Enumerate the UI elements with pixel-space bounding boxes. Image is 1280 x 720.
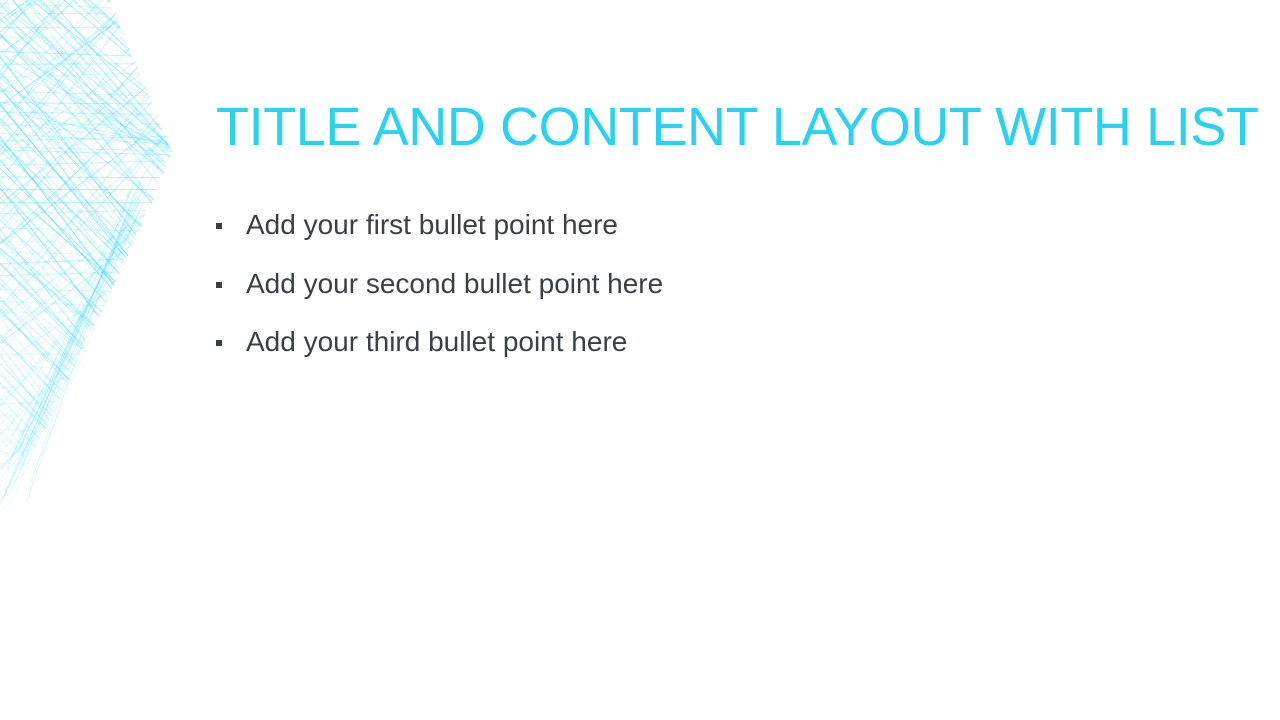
square-bullet-icon — [216, 282, 222, 288]
list-item-label: Add your first bullet point here — [246, 208, 618, 242]
wireframe-mesh-decoration — [0, 0, 200, 520]
title-block: TITLE AND CONTENT LAYOUT WITH LIST — [216, 96, 1226, 158]
square-bullet-icon — [216, 340, 222, 346]
list-item-label: Add your third bullet point here — [246, 325, 627, 359]
square-bullet-icon — [216, 223, 222, 229]
list-item: Add your second bullet point here — [216, 267, 1196, 326]
page-title: TITLE AND CONTENT LAYOUT WITH LIST — [216, 96, 1226, 158]
wireframe-mesh-svg — [0, 0, 200, 520]
list-item: Add your first bullet point here — [216, 208, 1196, 267]
slide-canvas: TITLE AND CONTENT LAYOUT WITH LIST Add y… — [0, 0, 1280, 720]
list-item-label: Add your second bullet point here — [246, 267, 663, 301]
bullet-list: Add your first bullet point here Add you… — [216, 208, 1196, 384]
list-item: Add your third bullet point here — [216, 325, 1196, 384]
